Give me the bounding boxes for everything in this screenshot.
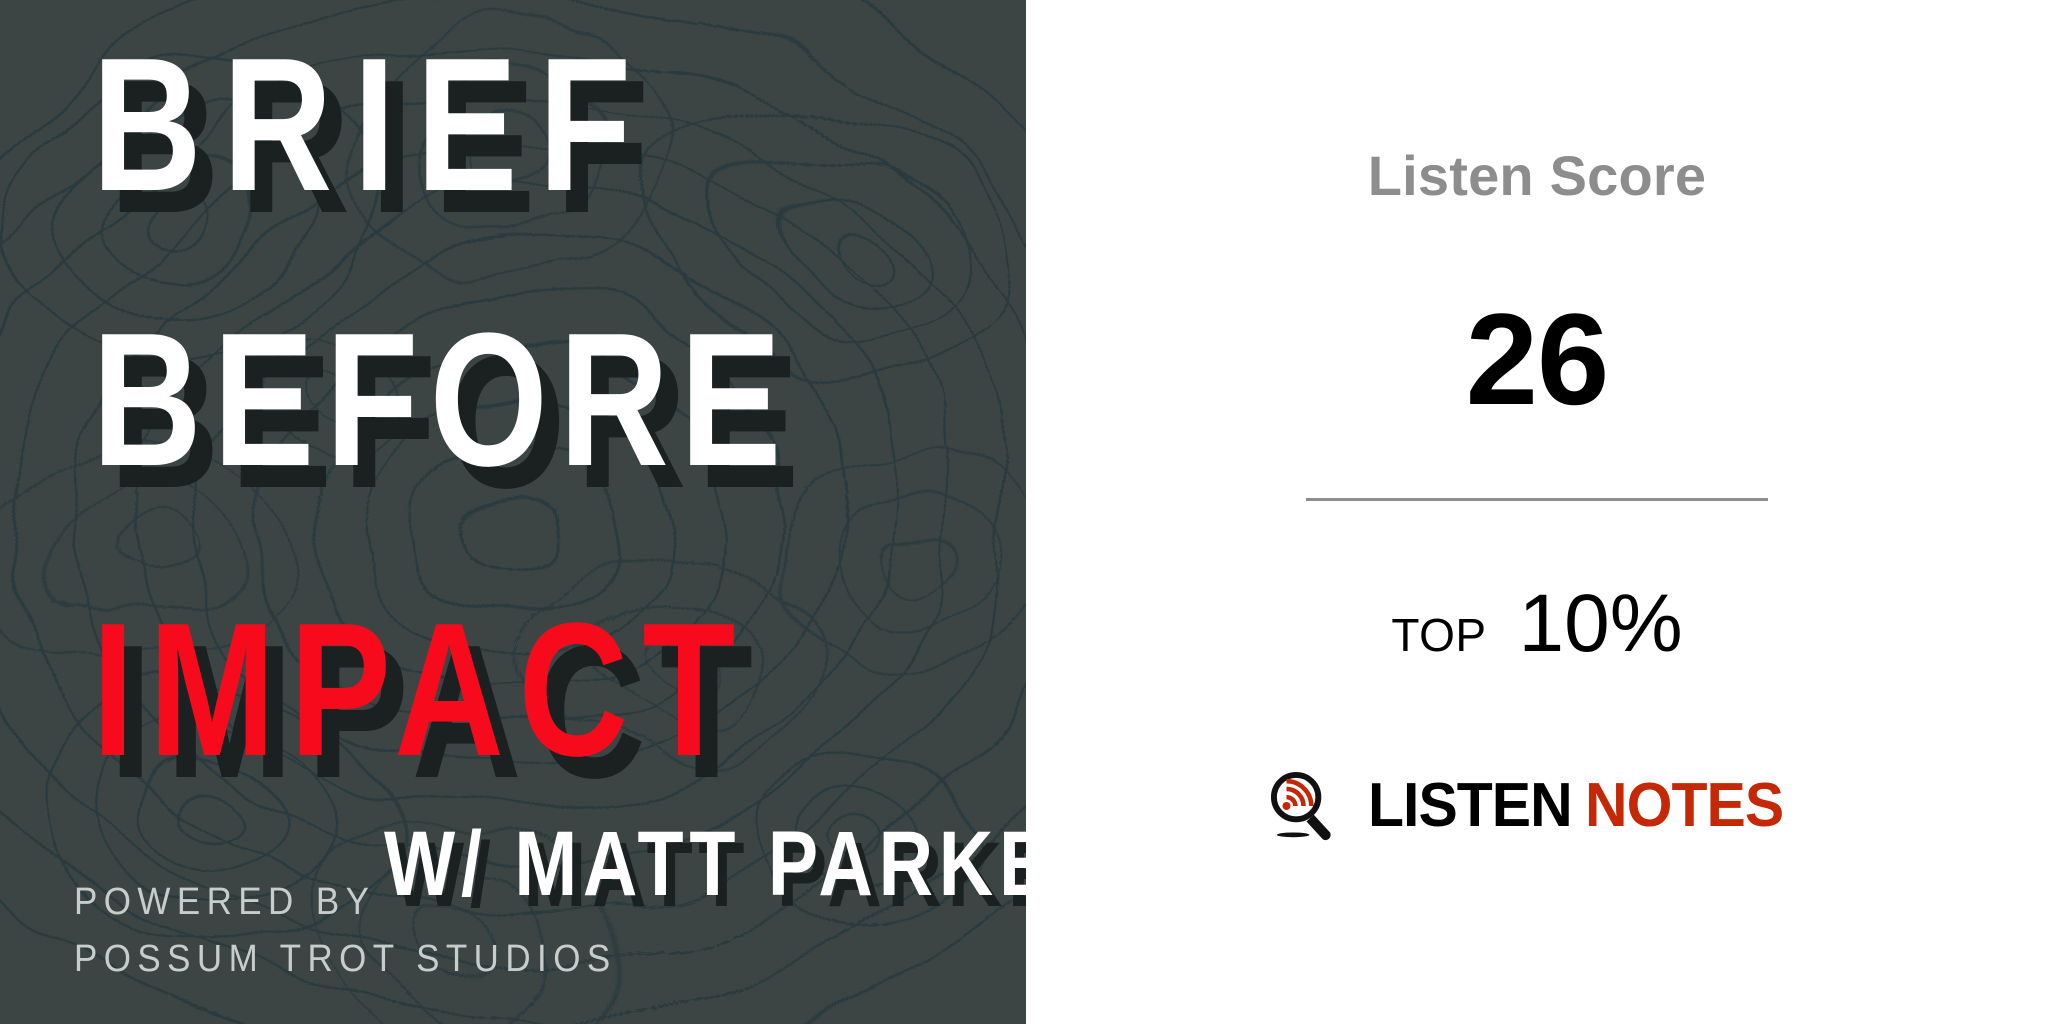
cover-powered-by-block: POWERED BY POSSUM TROT STUDIOS [74, 874, 617, 988]
listen-score-panel: Listen Score 26 TOP 10% [1026, 0, 2048, 1024]
listen-score-value: 26 [1466, 294, 1609, 424]
listen-notes-logo[interactable]: LISTENNOTES [1268, 769, 1805, 843]
rank-prefix-label: TOP [1391, 608, 1486, 662]
panel-divider [1306, 498, 1768, 501]
listen-notes-magnifier-rss-icon [1268, 769, 1342, 843]
cover-studio-name: POSSUM TROT STUDIOS [74, 931, 617, 988]
listen-notes-wordmark: LISTENNOTES [1368, 775, 1783, 837]
cover-title-line-3-text: IMPACT [92, 595, 750, 785]
listen-score-title: Listen Score [1368, 148, 1707, 204]
rank-percentile-value: 10% [1519, 577, 1683, 671]
cover-title-line-2-text: BEFORE [92, 305, 793, 495]
logo-word-notes: NOTES [1585, 771, 1783, 840]
logo-word-listen: LISTEN [1368, 771, 1572, 840]
listen-score-badge: BRIEF BRIEF BEFORE BEFORE IMPACT IMPACT … [0, 0, 2048, 1024]
listen-score-rank: TOP 10% [1391, 577, 1682, 671]
podcast-cover-art[interactable]: BRIEF BRIEF BEFORE BEFORE IMPACT IMPACT … [0, 0, 1026, 1024]
cover-powered-by-label: POWERED BY [74, 874, 617, 931]
cover-title-line-1-text: BRIEF [92, 30, 652, 220]
